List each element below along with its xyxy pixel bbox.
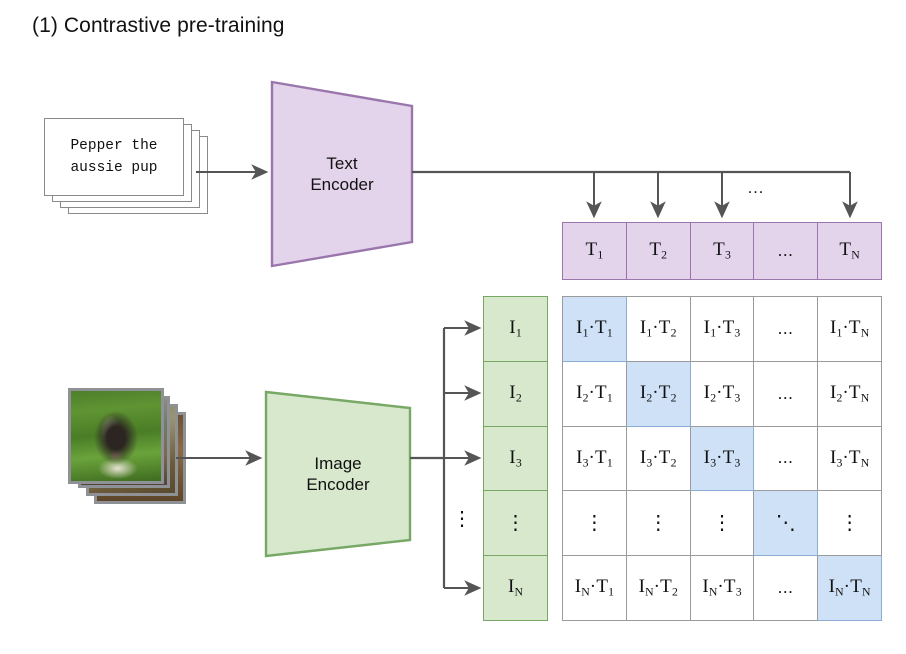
matrix-cell-ellipsis: ⋮ xyxy=(627,491,691,556)
matrix-ellipsis-glyph: ⋮ xyxy=(712,513,732,533)
matrix-cell-label: I3·T3 xyxy=(704,447,741,470)
text-embedding-cell[interactable]: TN xyxy=(818,223,881,279)
i-cell-ellipsis: ⋮ xyxy=(506,513,526,533)
image-embedding-cell-ellipsis: ⋮ xyxy=(484,491,547,556)
text-encoder-label-line2: Encoder xyxy=(310,174,373,195)
matrix-cell[interactable]: I2·TN xyxy=(818,362,882,427)
t-cell-label-1: T1 xyxy=(586,239,604,262)
matrix-cell-label: I3·T2 xyxy=(640,447,677,470)
matrix-cell[interactable]: I3·TN xyxy=(818,427,882,492)
matrix-cell-ellipsis: ... xyxy=(754,297,818,362)
image-encoder-label-line1: Image xyxy=(306,453,369,474)
i-cell-label-2: I2 xyxy=(509,382,521,405)
matrix-cell[interactable]: IN·TN xyxy=(818,556,882,621)
text-embedding-cell-ellipsis: ... xyxy=(754,223,818,279)
matrix-cell[interactable]: I3·T2 xyxy=(627,427,691,492)
text-embedding-cell[interactable]: T1 xyxy=(563,223,627,279)
matrix-ellipsis-glyph: ⋮ xyxy=(584,513,604,533)
t-cell-label-n: TN xyxy=(839,239,859,262)
matrix-cell[interactable]: I2·T2 xyxy=(627,362,691,427)
matrix-cell-label: I2·TN xyxy=(830,382,869,405)
matrix-cell[interactable]: I1·T1 xyxy=(563,297,627,362)
matrix-cell-label: I3·TN xyxy=(830,447,869,470)
i-cell-label-n: IN xyxy=(508,576,523,599)
matrix-cell-label: IN·TN xyxy=(829,576,871,599)
matrix-cell[interactable]: I1·T3 xyxy=(691,297,755,362)
matrix-cell-label: IN·T2 xyxy=(639,576,678,599)
i-cell-label-3: I3 xyxy=(509,447,521,470)
t-cell-label-2: T2 xyxy=(649,239,667,262)
similarity-matrix: I1·T1I1·T2I1·T3...I1·TNI2·T1I2·T2I2·T3..… xyxy=(562,296,882,621)
matrix-cell-ellipsis: ... xyxy=(754,556,818,621)
text-embedding-row: T1 T2 T3 ... TN xyxy=(562,222,882,280)
matrix-cell-label: I1·T3 xyxy=(704,317,741,340)
matrix-cell[interactable]: IN·T1 xyxy=(563,556,627,621)
bus-ellipsis: ... xyxy=(748,180,765,198)
matrix-cell-ellipsis: ... xyxy=(754,427,818,492)
matrix-cell-ellipsis: ⋮ xyxy=(818,491,882,556)
matrix-cell-label: I1·T1 xyxy=(576,317,613,340)
image-encoder-label-line2: Encoder xyxy=(306,474,369,495)
matrix-ellipsis-glyph: ... xyxy=(778,384,794,404)
image-embedding-cell[interactable]: I3 xyxy=(484,427,547,492)
matrix-ellipsis-glyph: ... xyxy=(778,578,794,598)
t-cell-label-3: T3 xyxy=(713,239,731,262)
matrix-cell[interactable]: I2·T1 xyxy=(563,362,627,427)
image-embedding-cell[interactable]: I1 xyxy=(484,297,547,362)
image-embedding-cell[interactable]: I2 xyxy=(484,362,547,427)
matrix-cell[interactable]: I2·T3 xyxy=(691,362,755,427)
text-embedding-cell[interactable]: T3 xyxy=(691,223,755,279)
matrix-cell-ellipsis: ⋮ xyxy=(691,491,755,556)
matrix-cell[interactable]: I1·TN xyxy=(818,297,882,362)
matrix-cell[interactable]: IN·T2 xyxy=(627,556,691,621)
text-embedding-cell[interactable]: T2 xyxy=(627,223,691,279)
matrix-ellipsis-glyph: ... xyxy=(778,448,794,468)
matrix-cell[interactable]: I3·T1 xyxy=(563,427,627,492)
matrix-cell-label: I2·T1 xyxy=(576,382,613,405)
matrix-cell-label: I1·TN xyxy=(830,317,869,340)
t-cell-ellipsis: ... xyxy=(778,241,794,261)
matrix-ellipsis-glyph: ⋮ xyxy=(840,513,860,533)
matrix-ellipsis-glyph: ... xyxy=(778,319,794,339)
matrix-cell-label: IN·T1 xyxy=(575,576,614,599)
matrix-cell-ellipsis: ⋱ xyxy=(754,491,818,556)
text-encoder-label: Text Encoder xyxy=(310,153,373,196)
matrix-cell[interactable]: IN·T3 xyxy=(691,556,755,621)
image-encoder-label: Image Encoder xyxy=(306,453,369,496)
matrix-cell-ellipsis: ⋮ xyxy=(563,491,627,556)
matrix-cell-label: I2·T3 xyxy=(704,382,741,405)
matrix-cell-label: I2·T2 xyxy=(640,382,677,405)
matrix-ellipsis-glyph: ⋱ xyxy=(776,513,796,533)
text-encoder-label-line1: Text xyxy=(310,153,373,174)
image-embedding-cell[interactable]: IN xyxy=(484,556,547,620)
matrix-ellipsis-glyph: ⋮ xyxy=(648,513,668,533)
i-cell-label-1: I1 xyxy=(509,317,521,340)
image-embedding-column: I1 I2 I3 ⋮ IN xyxy=(483,296,548,621)
matrix-cell-label: I1·T2 xyxy=(640,317,677,340)
matrix-cell[interactable]: I3·T3 xyxy=(691,427,755,492)
column-bus-ellipsis: ⋮ xyxy=(452,506,472,531)
matrix-cell-ellipsis: ... xyxy=(754,362,818,427)
matrix-cell-label: I3·T1 xyxy=(576,447,613,470)
matrix-cell-label: IN·T3 xyxy=(702,576,741,599)
matrix-cell[interactable]: I1·T2 xyxy=(627,297,691,362)
diagram-canvas: (1) Contrastive pre-training Pepper the … xyxy=(0,0,906,654)
